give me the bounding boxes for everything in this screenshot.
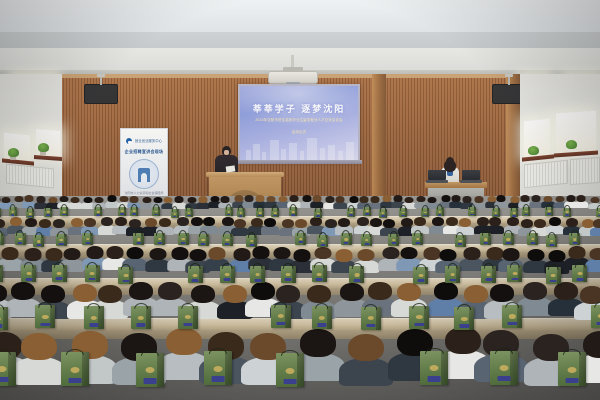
audience-member-head — [405, 197, 414, 204]
audience-member-head — [507, 217, 519, 226]
green-gift-bag — [481, 266, 496, 283]
gift-bag-side-panel — [136, 207, 138, 216]
gift-bag-tag — [36, 244, 41, 246]
audience-member-head — [590, 197, 599, 204]
gift-bag-tag — [224, 278, 231, 281]
gift-bag-side-panel — [206, 234, 209, 246]
green-gift-bag — [569, 233, 580, 245]
audience-member-head — [325, 219, 337, 228]
gift-bag-side-panel — [124, 207, 126, 216]
audience-member-head — [335, 249, 352, 262]
audience-member-head — [556, 196, 565, 203]
gift-bag-side-panel — [518, 265, 522, 282]
green-gift-bag — [347, 208, 355, 217]
green-gift-bag — [421, 208, 429, 217]
green-gift-bag — [60, 207, 68, 216]
gift-bag-emblem — [47, 211, 50, 213]
potted-plant-1 — [8, 148, 19, 157]
green-gift-bag — [361, 307, 381, 330]
audience-member-head — [48, 197, 57, 204]
green-gift-bag — [591, 305, 600, 328]
audience-member-head — [295, 219, 307, 228]
gift-bag-tag — [550, 280, 557, 283]
gift-bag-side-panel — [396, 234, 399, 246]
gift-bag-side-panel — [82, 352, 89, 386]
audience-member — [528, 249, 545, 270]
gift-bag-side-panel — [456, 266, 460, 283]
audience-member-head — [142, 197, 151, 204]
gift-bag-side-panel — [295, 207, 297, 216]
audience-member-head — [307, 285, 331, 303]
green-gift-bag — [412, 233, 423, 245]
gift-bag-side-panel — [516, 208, 518, 217]
audience-member — [234, 219, 246, 234]
audience-member — [11, 282, 35, 312]
audience-member-torso — [590, 227, 600, 236]
gift-bag-emblem — [255, 273, 260, 276]
audience-member — [223, 285, 247, 315]
audience-member-head — [312, 195, 321, 202]
audience-member-head — [119, 196, 128, 203]
audience-member — [71, 197, 80, 208]
potted-plant-3 — [528, 146, 539, 155]
gift-bag-emblem — [382, 212, 385, 214]
green-gift-bag — [178, 233, 189, 245]
audience-member-head — [203, 217, 215, 226]
audience-member-head — [166, 328, 202, 356]
gift-bag-emblem — [63, 211, 66, 213]
audience-member-head — [325, 196, 334, 203]
green-gift-bag — [94, 207, 102, 216]
audience-member-head — [188, 197, 197, 204]
gift-bag-side-panel — [327, 306, 332, 329]
green-gift-bag — [413, 267, 428, 284]
gift-bag-tag — [418, 279, 425, 282]
green-gift-bag — [84, 306, 104, 329]
audience-member-head — [382, 247, 399, 260]
gift-bag-tag — [283, 379, 296, 384]
banner-logo-icon — [125, 137, 133, 145]
green-gift-bag — [82, 233, 93, 245]
gift-bag-side-panel — [583, 265, 587, 282]
audience-member-head — [252, 246, 269, 259]
gift-bag-emblem — [57, 272, 62, 275]
green-gift-bag — [56, 234, 67, 246]
gift-bag-side-panel — [199, 266, 203, 283]
gift-bag-emblem — [90, 272, 95, 275]
gift-bag-emblem — [71, 367, 80, 373]
gift-bag-side-panel — [129, 267, 133, 284]
audience-member-head — [46, 248, 63, 261]
gift-bag-side-panel — [569, 208, 571, 217]
gift-bag-emblem — [471, 211, 474, 213]
gift-bag-tag — [483, 242, 488, 244]
gift-bag-emblem — [450, 273, 455, 276]
audience-member-head — [414, 217, 426, 226]
audience-member — [163, 197, 172, 208]
gift-bag-emblem — [188, 212, 191, 214]
gift-bag-tag — [69, 378, 82, 383]
laptop-left-base — [426, 180, 448, 183]
gift-bag-emblem — [458, 240, 462, 242]
gift-bag-tag — [415, 242, 420, 244]
audience-member-head — [71, 197, 80, 204]
gift-bag-side-panel — [420, 233, 423, 245]
green-gift-bag — [445, 266, 460, 283]
green-gift-bag — [281, 266, 296, 283]
gift-bag-emblem — [344, 238, 348, 240]
gift-bag-side-panel — [579, 352, 586, 386]
gift-bag-emblem — [419, 274, 424, 277]
green-gift-bag — [399, 208, 407, 217]
audience-member-head — [255, 195, 264, 202]
gift-bag-emblem — [507, 238, 511, 240]
audience-member-head — [189, 249, 206, 262]
green-gift-bag — [256, 208, 264, 217]
green-gift-bag — [152, 207, 160, 216]
audience-member-head — [221, 196, 230, 203]
audience-member-head — [441, 195, 450, 202]
audience-member-head — [383, 219, 395, 228]
gift-bag-tag — [144, 378, 157, 383]
gift-bag-emblem — [202, 239, 206, 241]
gift-bag-tag — [511, 278, 518, 281]
gift-bag-side-panel — [1, 233, 4, 245]
audience-member-head — [534, 219, 546, 228]
gift-bag-tag — [596, 322, 600, 326]
gift-bag-tag — [458, 243, 463, 245]
green-gift-bag — [61, 352, 89, 386]
projection-screen-frame: 莘莘学子 逐梦沈阳 2023年沈阳市驻沈高校毕业生留沈就业人才交流洽谈会 启动仪… — [238, 84, 360, 162]
green-gift-bag — [379, 209, 387, 218]
gift-bag-side-panel — [385, 209, 387, 218]
gift-bag-emblem — [548, 210, 551, 212]
gift-bag-side-panel — [405, 208, 407, 217]
gift-bag-emblem — [173, 213, 176, 215]
audience-member-head — [348, 334, 384, 362]
gift-bag-emblem — [250, 240, 254, 242]
audience-member-torso — [12, 357, 66, 386]
audience-member — [382, 195, 391, 206]
gift-bag-side-panel — [492, 266, 496, 283]
gift-bag-side-panel — [551, 207, 553, 216]
audience-member-head — [290, 195, 299, 202]
audience-member — [583, 331, 600, 377]
audience-member-head — [554, 282, 578, 300]
banner-footer-text: 沈阳市人力资源和社会保障局 — [121, 191, 167, 195]
audience-member-head — [370, 196, 379, 203]
gift-bag-side-panel — [555, 235, 558, 247]
gift-bag-side-panel — [231, 207, 233, 216]
gift-bag-side-panel — [0, 265, 3, 282]
audience-member — [264, 218, 276, 233]
gift-bag-emblem — [366, 210, 369, 212]
gift-bag-emblem — [321, 240, 325, 242]
potted-plant-4 — [566, 140, 577, 149]
gift-bag-side-panel — [50, 305, 55, 328]
lecture-hall-photo: EPSON 莘莘学子 逐梦沈阳 2023年沈阳市驻沈高校毕业生留沈就业人才交流洽… — [0, 0, 600, 400]
green-gift-bag — [0, 352, 16, 386]
green-gift-bag — [44, 208, 52, 217]
gift-bag-emblem — [292, 211, 295, 213]
gift-bag-tag — [25, 278, 32, 281]
audience-member-head — [568, 246, 585, 259]
gift-bag-tag — [89, 278, 96, 281]
green-gift-bag — [312, 265, 327, 282]
gift-bag-emblem — [509, 314, 515, 318]
audience-member-head — [544, 196, 553, 203]
gift-bag-emblem — [155, 211, 158, 213]
gift-bag-side-panel — [50, 208, 52, 217]
gift-bag-tag — [136, 323, 145, 327]
audience-member-head — [98, 285, 122, 303]
audience-member-head — [477, 217, 489, 226]
gift-bag-emblem — [42, 315, 48, 319]
audience-member-head — [464, 285, 488, 303]
green-gift-bag — [276, 353, 304, 387]
audience-member-head — [276, 285, 300, 303]
audience-member-head — [397, 283, 421, 301]
audience-member-head — [106, 246, 123, 259]
gift-bag-emblem — [185, 315, 191, 319]
gift-bag-side-panel — [261, 266, 265, 283]
audience-member-head — [300, 329, 336, 357]
gift-bag-side-panel — [32, 265, 36, 282]
audience-member — [589, 248, 600, 269]
audience-member — [294, 249, 311, 270]
audience-member-head — [336, 196, 345, 203]
gift-bag-emblem — [416, 315, 422, 319]
audience-member-head — [282, 219, 294, 228]
audience-member — [428, 197, 437, 208]
green-gift-bag — [130, 207, 138, 216]
laptop-left — [428, 170, 446, 183]
green-gift-bag — [388, 234, 399, 246]
gift-bag-tag — [192, 279, 199, 282]
gift-bag-tag — [249, 244, 254, 246]
audience-member-head — [432, 217, 444, 226]
green-gift-bag — [295, 233, 306, 245]
gift-bag-side-panel — [63, 265, 67, 282]
green-gift-bag — [563, 208, 571, 217]
gift-bag-tag — [549, 244, 554, 246]
gift-bag-side-panel — [262, 208, 264, 217]
gift-bag-emblem — [567, 367, 576, 373]
gift-bag-emblem — [573, 238, 577, 240]
audience-member-head — [521, 195, 530, 202]
audience-member-head — [234, 219, 246, 228]
green-gift-bag — [222, 234, 233, 246]
audience-member-head — [11, 282, 35, 300]
gift-bag-side-panel — [15, 207, 17, 216]
gift-bag-emblem — [11, 211, 14, 213]
audience-member-head — [223, 285, 247, 303]
gift-bag-emblem — [90, 316, 96, 320]
gift-bag-side-panel — [243, 208, 245, 217]
audience-member-head — [549, 217, 561, 226]
green-gift-bag — [361, 234, 372, 246]
green-gift-bag — [133, 233, 144, 245]
audience-member-head — [475, 196, 484, 203]
audience-member-head — [222, 217, 234, 226]
audience-member-head — [171, 247, 188, 260]
audience-member — [36, 196, 45, 207]
gift-bag-side-panel — [370, 234, 373, 246]
gift-bag-side-panel — [303, 233, 306, 245]
laptop-right-base — [460, 180, 482, 183]
gift-bag-tag — [497, 376, 510, 381]
audience-member-head — [10, 217, 22, 226]
slide-title: 莘莘学子 逐梦沈阳 — [240, 102, 358, 115]
green-gift-bag — [522, 207, 530, 216]
banner-seal-emblem — [129, 159, 159, 189]
gift-bag-emblem — [18, 238, 22, 240]
gift-bag-tag — [285, 278, 292, 281]
gift-bag-emblem — [430, 365, 439, 371]
gift-bag-tag — [572, 242, 577, 244]
audience-member-head — [60, 196, 69, 203]
green-gift-bag — [454, 307, 474, 330]
potted-plant-2 — [38, 143, 49, 152]
audience-member-head — [302, 195, 311, 202]
audience-member-head — [315, 247, 332, 260]
audience-member-head — [566, 218, 578, 227]
gift-bag-side-panel — [517, 305, 522, 328]
gift-bag-emblem — [402, 212, 405, 214]
audience-member-head — [210, 196, 219, 203]
audience-member-torso — [574, 201, 588, 208]
audience-member-head — [163, 197, 172, 204]
gift-bag-tag — [136, 242, 141, 244]
audience-member-head — [338, 218, 350, 227]
audience-member — [312, 195, 321, 206]
audience-member-torso — [261, 225, 279, 234]
gift-bag-side-panel — [8, 352, 15, 386]
gift-bag-side-panel — [510, 351, 517, 385]
audience-member — [279, 196, 288, 207]
gift-bag-side-panel — [369, 207, 371, 216]
banner-headline: 企业招聘宣讲会现场 — [121, 149, 167, 155]
audience-member-head — [24, 248, 41, 261]
gift-bag-side-panel — [349, 233, 352, 245]
gift-bag-side-panel — [100, 207, 102, 216]
audience-member-head — [83, 197, 92, 204]
audience-member-head — [340, 283, 364, 301]
gift-bag-emblem — [286, 273, 291, 276]
audience-member — [142, 197, 151, 208]
audience-member-head — [126, 247, 143, 260]
gift-bag-emblem — [299, 238, 303, 240]
green-gift-bag — [490, 351, 518, 385]
gift-bag-side-panel — [177, 209, 179, 218]
gift-bag-emblem — [512, 272, 517, 275]
gift-bag-emblem — [531, 238, 535, 240]
audience-member — [432, 217, 444, 232]
audience-member-head — [523, 282, 547, 300]
gift-bag-tag — [0, 377, 8, 382]
gift-bag-tag — [41, 323, 50, 327]
audience-member-head — [490, 284, 514, 302]
gift-bag-tag — [576, 278, 583, 281]
audience-member — [489, 217, 501, 232]
gift-bag-tag — [353, 279, 360, 282]
gift-bag-emblem — [439, 211, 442, 213]
green-gift-bag — [52, 265, 67, 282]
green-gift-bag — [312, 306, 332, 329]
gift-bag-emblem — [551, 274, 556, 277]
gift-bag-tag — [449, 279, 456, 282]
audience-member-head — [359, 196, 368, 203]
gift-bag-side-panel — [158, 207, 160, 216]
green-gift-bag — [35, 305, 55, 328]
audience-member-head — [368, 282, 392, 300]
laptop-left-screen — [428, 170, 446, 180]
audience-member — [549, 217, 561, 232]
right-window-2 — [556, 111, 596, 156]
gift-bag-emblem — [97, 211, 100, 213]
gift-bag-emblem — [225, 273, 230, 276]
audience-member-head — [191, 217, 203, 226]
audience-member — [531, 195, 540, 206]
gift-bag-emblem — [227, 211, 230, 213]
audience-member-head — [175, 196, 184, 203]
audience-member — [21, 333, 57, 379]
green-gift-bag — [0, 307, 8, 330]
gift-bag-side-panel — [557, 267, 561, 284]
audience-member-head — [589, 248, 600, 261]
gift-bag-tag — [59, 243, 64, 245]
green-gift-bag — [154, 233, 165, 245]
green-gift-bag — [0, 265, 3, 282]
gift-bag-tag — [122, 280, 129, 283]
audience-member — [310, 217, 322, 232]
wall-seam-left — [372, 74, 386, 204]
gift-bag-tag — [316, 278, 323, 281]
green-gift-bag — [237, 208, 245, 217]
gift-bag-side-panel — [360, 266, 364, 283]
gift-bag-emblem — [285, 368, 294, 374]
gift-bag-side-panel — [32, 209, 34, 218]
gift-bag-tag — [181, 242, 186, 244]
audience-member-head — [531, 195, 540, 202]
green-gift-bag — [171, 209, 179, 218]
audience-member-head — [149, 248, 166, 261]
green-gift-bag — [480, 233, 491, 245]
audience-member — [106, 246, 123, 267]
presenter-notes — [226, 165, 236, 172]
gift-bag-side-panel — [297, 353, 304, 387]
gift-bag-emblem — [158, 238, 162, 240]
gift-bag-side-panel — [230, 234, 233, 246]
green-gift-bag — [26, 209, 34, 218]
green-gift-bag — [409, 306, 429, 329]
audience-member-head — [73, 284, 97, 302]
audience-member-head — [21, 333, 57, 361]
projection-screen-bottom-bar — [236, 160, 362, 164]
gift-bag-emblem — [86, 238, 90, 240]
audience-member-head — [394, 195, 403, 202]
gift-bag-tag — [18, 242, 23, 244]
audience-member-head — [528, 249, 545, 262]
gift-bag-emblem — [0, 366, 6, 372]
gift-bag-emblem — [495, 212, 498, 214]
gift-bag-tag — [320, 244, 325, 246]
green-gift-bag — [349, 266, 364, 283]
gift-bag-side-panel — [146, 306, 151, 329]
audience-member-head — [25, 218, 37, 227]
audience-member-head — [84, 218, 96, 227]
gift-bag-side-panel — [577, 233, 580, 245]
